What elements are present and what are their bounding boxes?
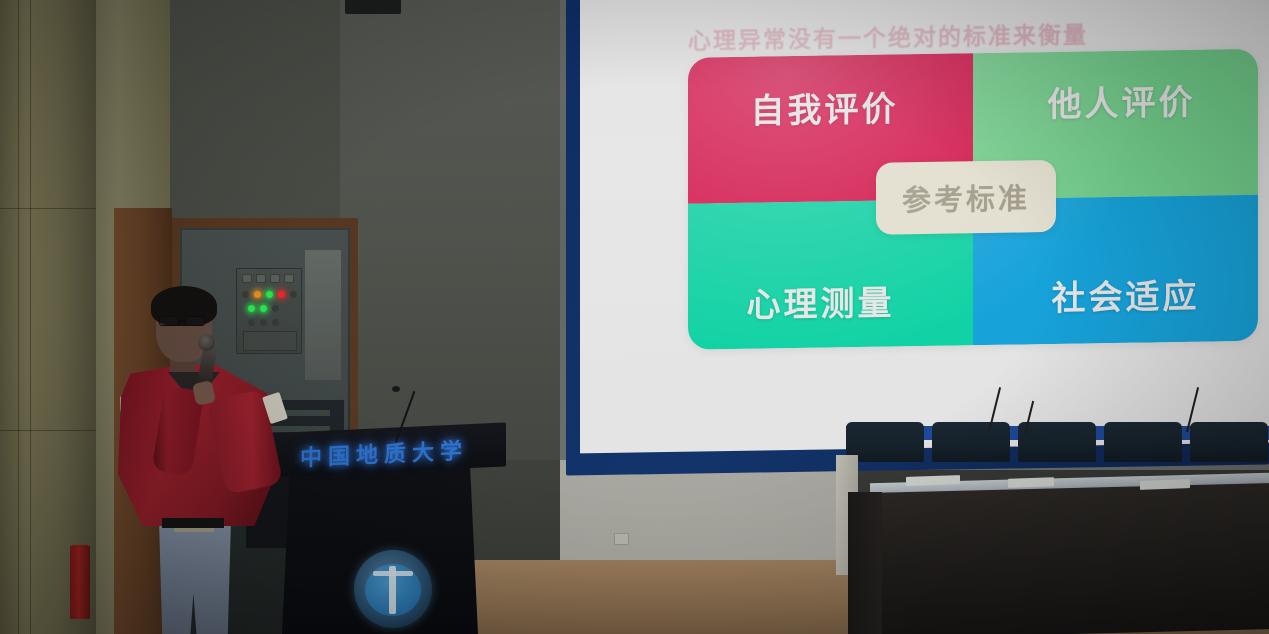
ceiling-speaker-unit [345,0,401,14]
presenter-person [118,286,278,634]
quadrant-label: 心理测量 [747,275,895,326]
wall-seam [18,0,19,634]
quadrant-label: 社会适应 [1052,268,1200,319]
paper-on-table [1008,477,1054,488]
center-reference-standard-chip: 参考标准 [876,160,1056,235]
microphone-head-icon [392,386,400,392]
eyeglass-lens-right [185,316,205,326]
conference-table-body [874,483,1269,634]
conference-table-side [848,492,882,634]
presenter-hand [192,380,216,406]
paper-on-table [906,475,960,486]
presenter-jeans [156,524,234,634]
projection-screen-surface: 心理异常没有一个绝对的标准来衡量 自我评价 他人评价 心理测量 社会适应 参考标… [580,0,1269,453]
control-panel-gauges [242,274,294,283]
conference-chair [1190,422,1268,462]
eyeglasses-icon [159,316,211,326]
presentation-slide: 心理异常没有一个绝对的标准来衡量 自我评价 他人评价 心理测量 社会适应 参考标… [580,0,1269,453]
wall-right-gray [340,0,586,460]
quadrant-label: 自我评价 [751,81,899,132]
conference-chair [1018,422,1096,462]
eyeglass-lens-left [159,316,179,326]
eyeglass-bridge [179,320,186,322]
gauge-icon [242,274,252,283]
gauge-icon [256,274,266,283]
university-emblem-logo [354,550,432,628]
globe-icon [365,564,421,616]
inner-room-cabinet [305,250,341,380]
slide-title: 心理异常没有一个绝对的标准来衡量 [688,15,1128,56]
wall-seam [0,208,96,209]
indicator-led [290,291,297,298]
wall-outlet [614,533,629,545]
wall-seam [0,430,96,431]
gauge-icon [270,274,280,283]
quadrant-label: 他人评价 [1048,74,1196,125]
fire-extinguisher [70,545,90,619]
paper-on-table [1140,479,1190,490]
lecture-hall-photo: 心理异常没有一个绝对的标准来衡量 自我评价 他人评价 心理测量 社会适应 参考标… [0,0,1269,634]
conference-chair [932,422,1010,462]
conference-chair [1104,422,1182,462]
gauge-icon [284,274,294,283]
wall-seam [30,0,31,634]
conference-chairs-row [846,422,1269,464]
center-chip-label: 参考标准 [902,175,1030,219]
presenter-belt [162,518,224,528]
indicator-led [278,291,285,298]
wall-beige-panel-1 [0,0,96,634]
